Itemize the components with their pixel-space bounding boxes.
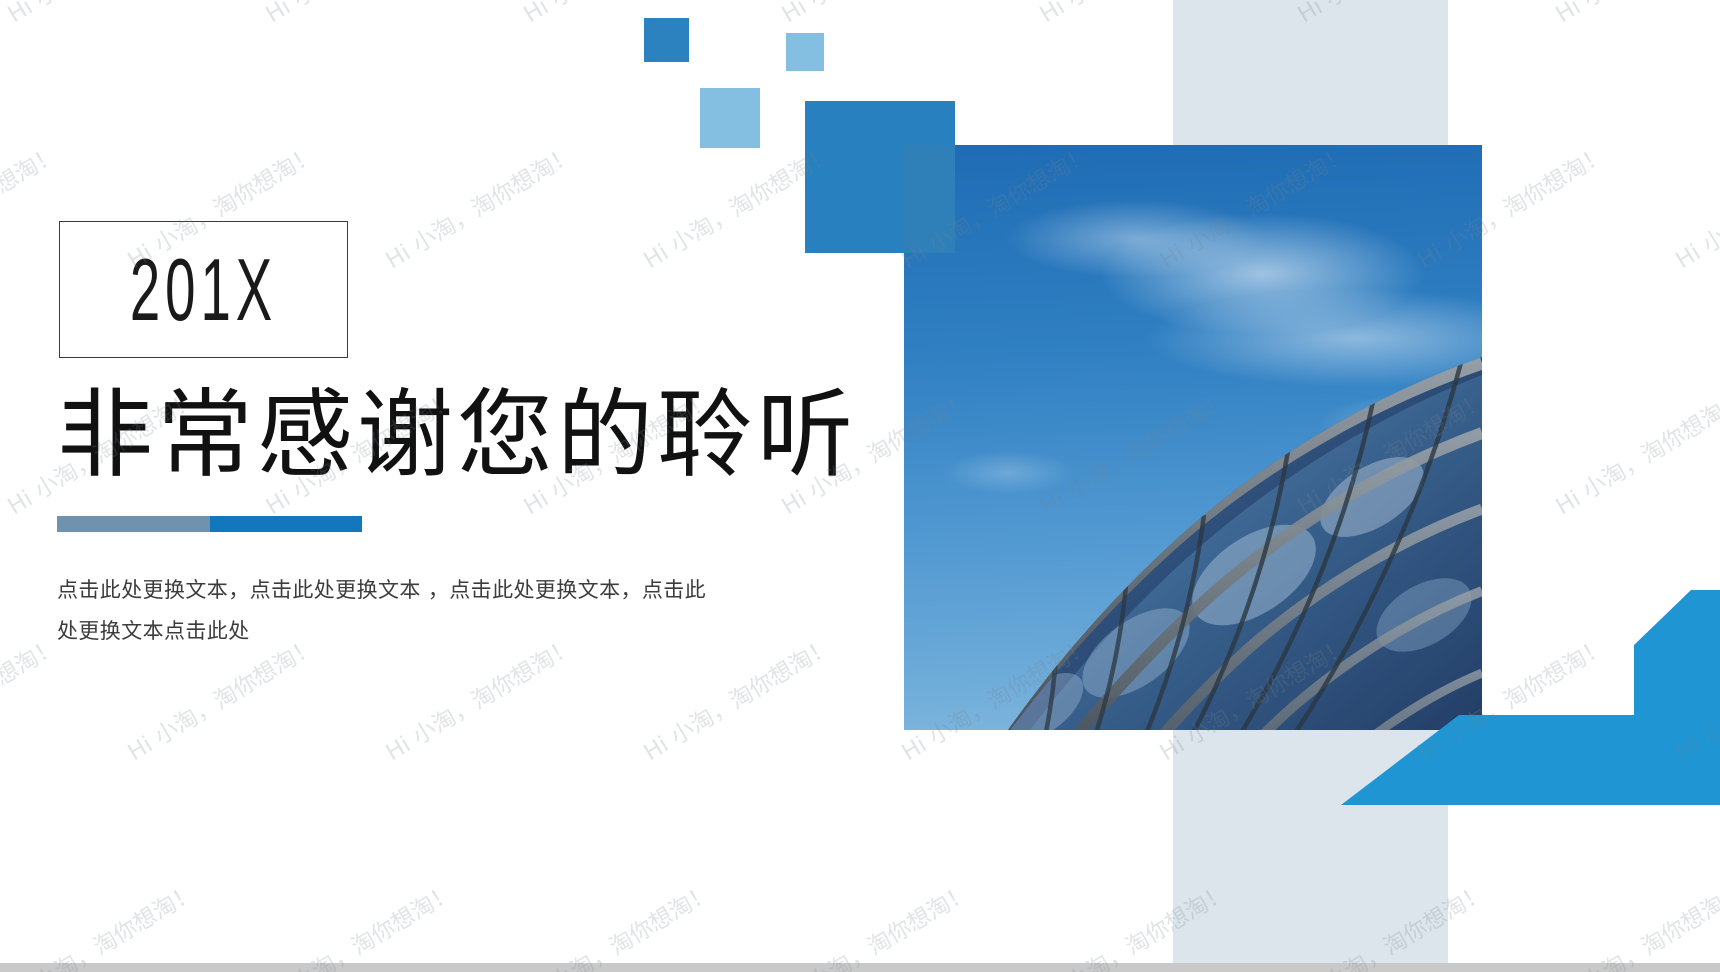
bottom-chrome-bar [0,963,1720,972]
watermark-text: Hi 小淘，淘你想淘！ [774,873,976,972]
watermark-text: Hi 小淘，淘你想淘！ [1548,381,1720,521]
body-paragraph-line-1: 点击此处更换文本，点击此处更换文本 ，点击此处更换文本，点击此 [57,570,857,611]
presentation-slide: 201X 非常感谢您的聆听 点击此处更换文本，点击此处更换文本 ，点击此处更换文… [0,0,1720,972]
decorative-arrow-shape [1341,590,1720,805]
decorative-square-light-tiny [786,33,824,71]
decorative-square-light-medium [700,88,760,148]
watermark-text: Hi 小淘，淘你想淘！ [0,627,64,767]
accent-rule-segment-blue [210,516,363,532]
watermark-text: Hi 小淘，淘你想淘！ [1668,135,1720,275]
page-title: 非常感谢您的聆听 [57,385,857,486]
body-paragraph: 点击此处更换文本，点击此处更换文本 ，点击此处更换文本，点击此 处更换文本点击此… [57,570,857,652]
year-label: 201X [115,222,293,357]
decorative-square-dark-small [644,18,689,62]
watermark-text: Hi 小淘，淘你想淘！ [1548,0,1720,29]
accent-rule-segment-slate [57,516,210,532]
watermark-text: Hi 小淘，淘你想淘！ [0,0,202,29]
body-paragraph-line-2: 处更换文本点击此处 [57,611,857,652]
decorative-square-photo-overlap [904,145,955,253]
watermark-text: Hi 小淘，淘你想淘！ [774,0,976,29]
watermark-text: Hi 小淘，淘你想淘！ [1548,873,1720,972]
watermark-text: Hi 小淘，淘你想淘！ [258,0,460,29]
year-badge: 201X [59,221,348,358]
watermark-text: Hi 小淘，淘你想淘！ [516,873,718,972]
watermark-text: Hi 小淘，淘你想淘！ [0,873,202,972]
watermark-text: Hi 小淘，淘你想淘！ [378,135,580,275]
accent-rule [57,516,362,532]
watermark-text: Hi 小淘，淘你想淘！ [258,873,460,972]
watermark-text: Hi 小淘，淘你想淘！ [0,135,64,275]
